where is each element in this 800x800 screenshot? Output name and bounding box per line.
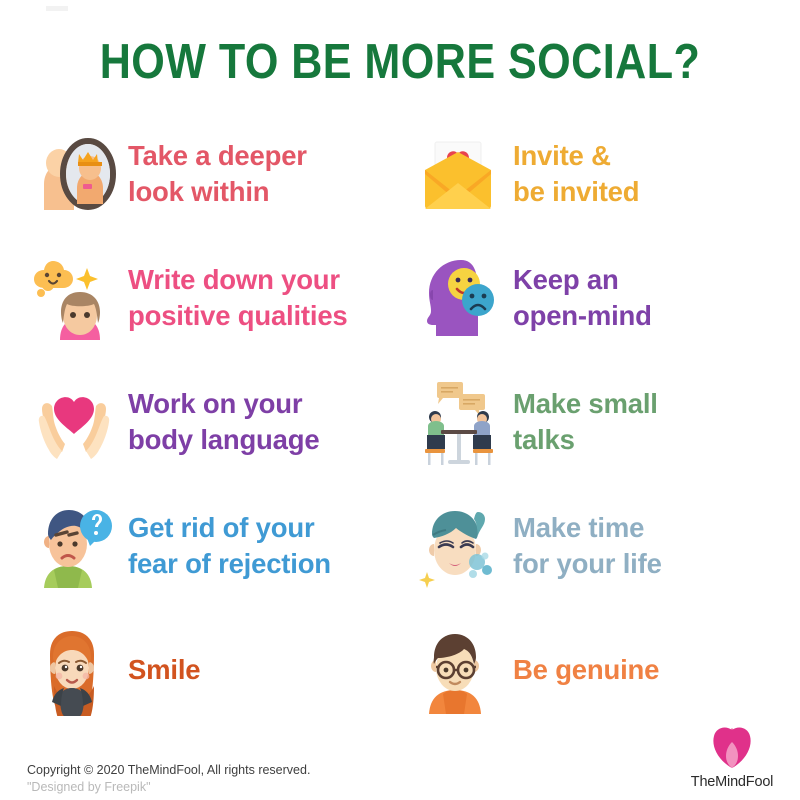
brand-logo[interactable]: TheMindFool	[678, 722, 786, 790]
tip-item-be-genuine[interactable]: Be genuine	[415, 608, 770, 732]
tip-label: Keep an open-mind	[513, 262, 652, 334]
girl-thought-cloud-icon	[30, 252, 118, 344]
tip-label: Invite & be invited	[513, 138, 639, 210]
worried-man-question-icon	[30, 500, 118, 592]
copyright-text: Copyright © 2020 TheMindFool, All rights…	[27, 762, 310, 779]
envelope-heart-icon	[415, 128, 503, 220]
tip-label: Make small talks	[513, 386, 658, 458]
boy-glasses-icon	[415, 624, 503, 716]
tip-label: Make time for your life	[513, 510, 662, 582]
design-credit-text: "Designed by Freepik"	[27, 779, 310, 796]
two-people-talking-icon	[415, 376, 503, 468]
tip-label: Be genuine	[513, 652, 659, 688]
tip-label: Take a deeper look within	[128, 138, 307, 210]
tip-item-invite-and-be-invited[interactable]: Invite & be invited	[415, 112, 770, 236]
spa-woman-icon	[415, 500, 503, 592]
smiling-woman-icon	[30, 624, 118, 716]
tips-grid: Take a deeper look within Invite & be in…	[30, 112, 770, 732]
tip-item-keep-an-open-mind[interactable]: Keep an open-mind	[415, 236, 770, 360]
tip-item-take-a-deeper-look-within[interactable]: Take a deeper look within	[30, 112, 415, 236]
tip-item-make-time-for-your-life[interactable]: Make time for your life	[415, 484, 770, 608]
tip-item-work-on-your-body-language[interactable]: Work on your body language	[30, 360, 415, 484]
tip-label: Write down your positive qualities	[128, 262, 348, 334]
logo-text: TheMindFool	[678, 774, 786, 790]
tip-item-make-small-talks[interactable]: Make small talks	[415, 360, 770, 484]
tip-item-smile[interactable]: Smile	[30, 608, 415, 732]
top-artifact	[46, 6, 68, 11]
tip-item-get-rid-of-your-fear-of-rejection[interactable]: Get rid of your fear of rejection	[30, 484, 415, 608]
tip-label: Get rid of your fear of rejection	[128, 510, 331, 582]
page-title: HOW TO BE MORE SOCIAL?	[48, 34, 752, 90]
infographic-poster: HOW TO BE MORE SOCIAL? Take a deeper loo…	[0, 0, 800, 800]
tip-label: Smile	[128, 652, 200, 688]
tip-item-write-down-your-positive-qualities[interactable]: Write down your positive qualities	[30, 236, 415, 360]
tip-label: Work on your body language	[128, 386, 319, 458]
hands-heart-icon	[30, 376, 118, 468]
head-two-faces-icon	[415, 252, 503, 344]
footer-copyright-block: Copyright © 2020 TheMindFool, All rights…	[27, 762, 310, 797]
lotus-icon	[704, 722, 760, 772]
mirror-reflection-icon	[30, 128, 118, 220]
